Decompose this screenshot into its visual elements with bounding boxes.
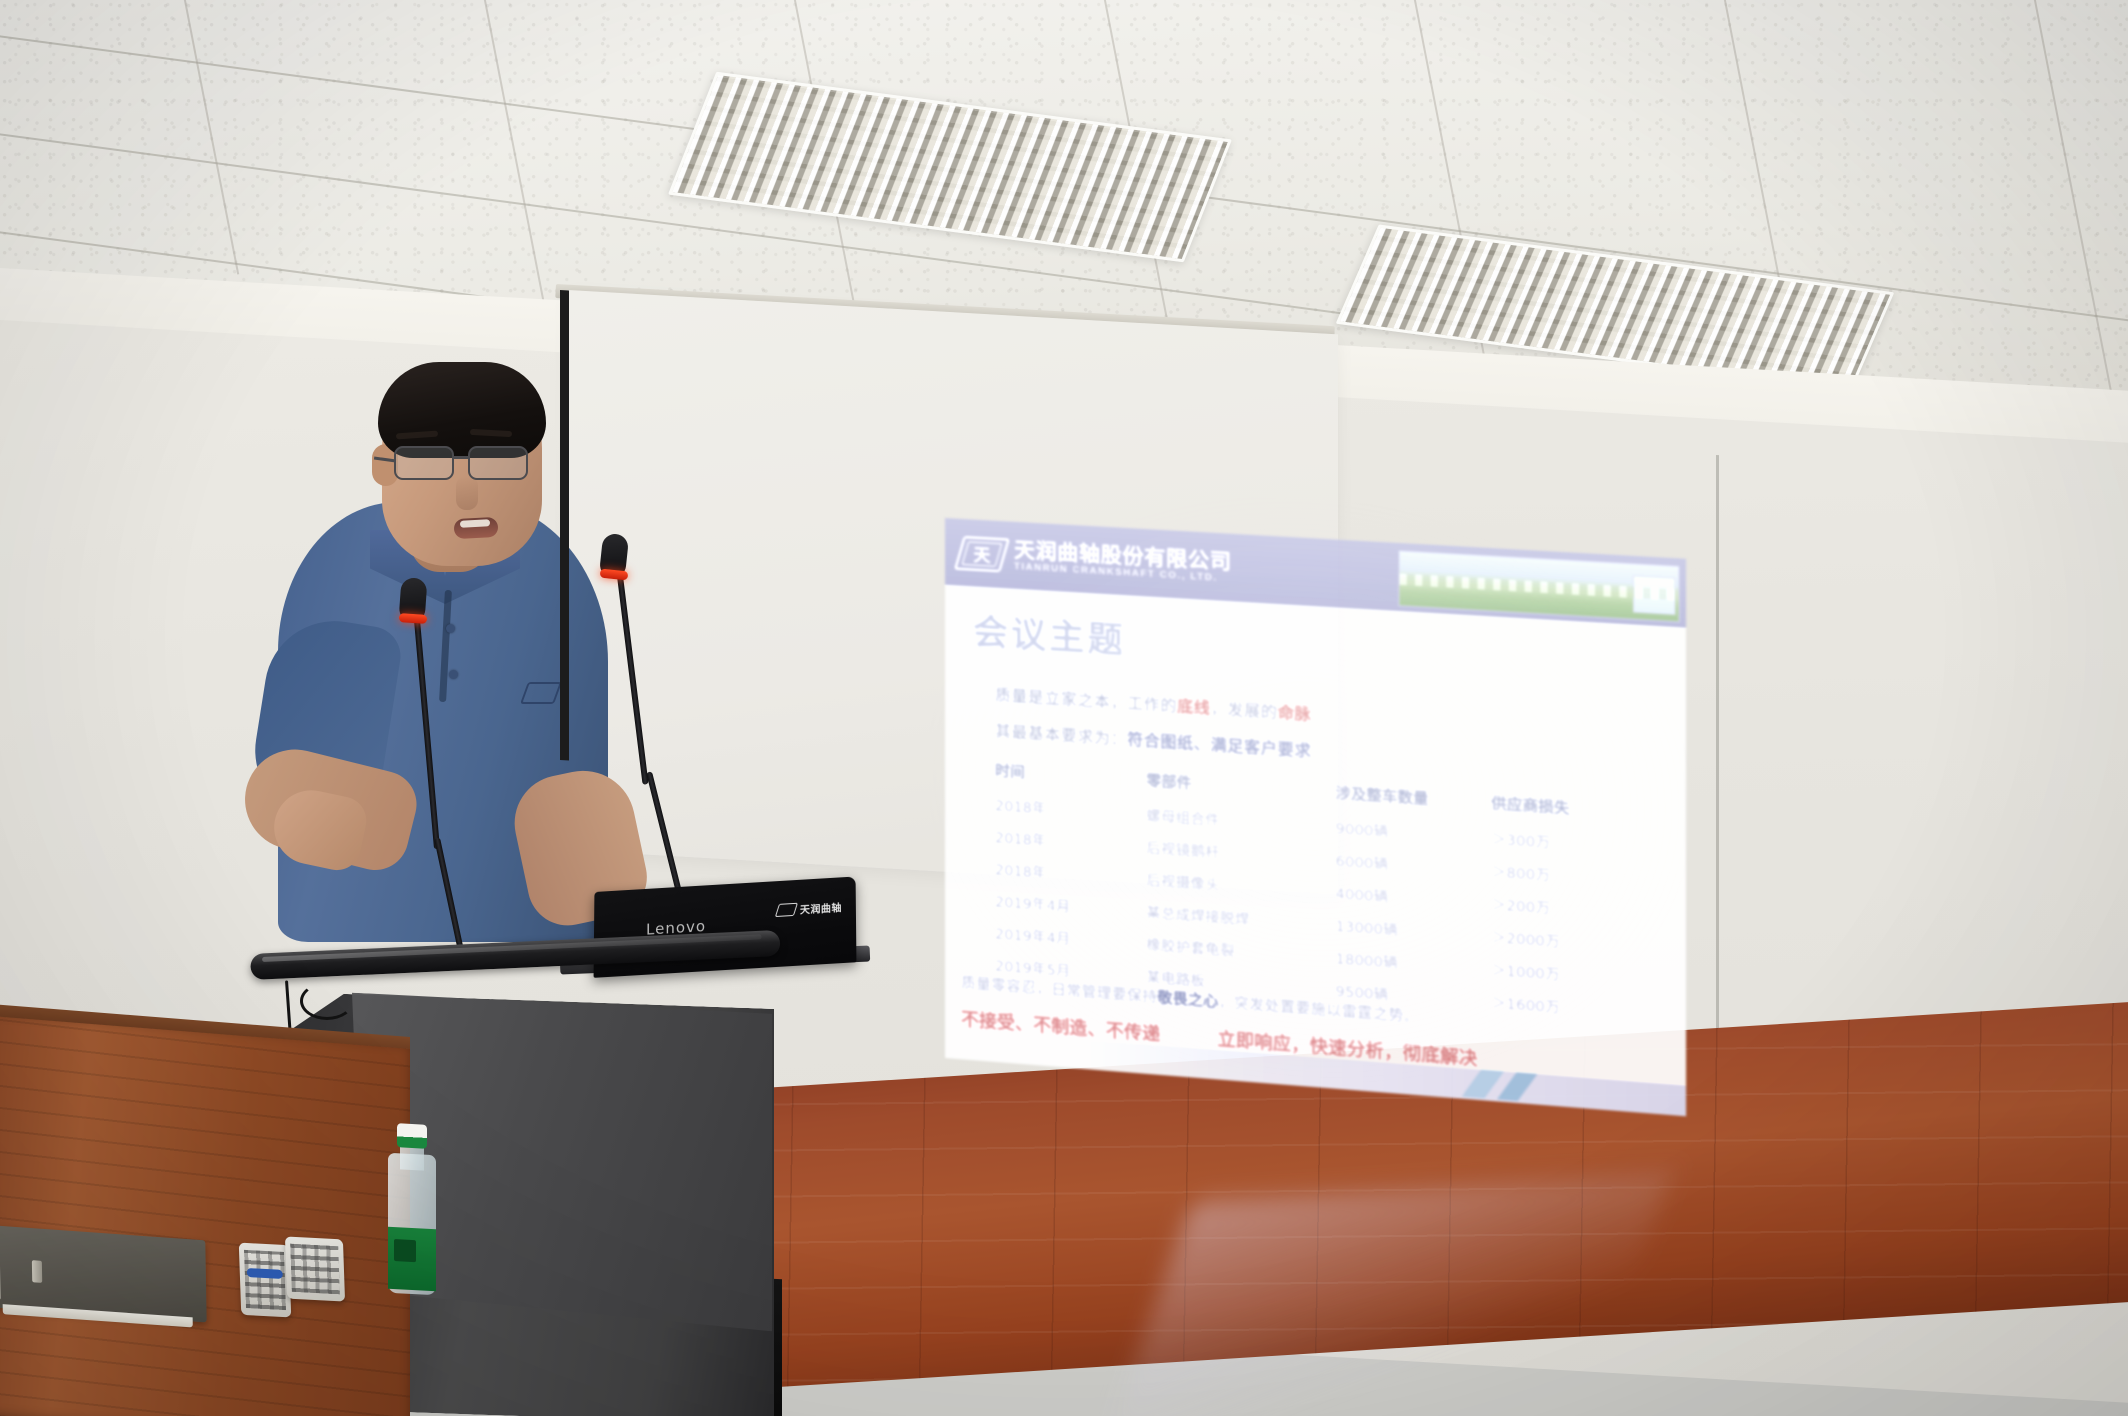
water-bottle[interactable] xyxy=(388,1123,436,1296)
screen-side-track xyxy=(560,290,569,761)
laptop[interactable]: Lenovo 天润曲轴 xyxy=(594,876,857,977)
line2-highlight-1: 符合图纸、满足客户要求 xyxy=(1127,730,1311,761)
remote-control[interactable] xyxy=(285,1236,345,1301)
floor-reflection xyxy=(1108,1172,1672,1416)
sticker-text: 天润曲轴 xyxy=(800,899,842,916)
glasses-bridge xyxy=(454,456,470,459)
sticker-diamond-logo-icon xyxy=(777,903,796,917)
projected-slide: 天 天润曲轴股份有限公司 TIANRUN CRANKSHAFT CO., LTD… xyxy=(945,518,1686,1116)
photo-inset xyxy=(1633,575,1675,615)
bottle-cap xyxy=(397,1123,427,1149)
remote-control[interactable] xyxy=(239,1243,291,1318)
lens-left xyxy=(394,446,454,480)
remote-keypad xyxy=(244,1250,286,1310)
nose xyxy=(456,476,478,510)
line1-part2: ，发展的 xyxy=(1210,699,1277,722)
polo-button xyxy=(449,670,458,679)
slide-title: 会议主题 xyxy=(973,604,1126,664)
logo-character: 天 xyxy=(959,535,1005,572)
line1-part1: 质量是立家之本，工作的 xyxy=(995,685,1177,716)
cable-loop xyxy=(300,982,354,1020)
footer1-bold: 敬畏之心 xyxy=(1157,988,1218,1011)
line2-part1: 其最基本要求为： xyxy=(995,721,1127,749)
notebook-clip-icon xyxy=(32,1260,42,1283)
line1-highlight-1: 底线 xyxy=(1177,696,1210,717)
remote-navigation-pad[interactable] xyxy=(247,1268,283,1279)
notebook[interactable] xyxy=(0,1226,207,1323)
slide-line-1: 质量是立家之本，工作的底线，发展的命脉 xyxy=(995,681,1311,725)
line1-highlight-2: 命脉 xyxy=(1278,703,1312,724)
company-name-block: 天润曲轴股份有限公司 TIANRUN CRANKSHAFT CO., LTD. xyxy=(1014,539,1232,584)
laptop-company-sticker: 天润曲轴 xyxy=(777,899,842,918)
microphone-status-ring-icon xyxy=(399,613,428,624)
bottle-label xyxy=(388,1227,436,1292)
polo-button xyxy=(446,624,455,633)
wood-grain xyxy=(0,1016,410,1416)
remote-keypad xyxy=(290,1244,340,1295)
aerial-factory-photo xyxy=(1398,550,1679,622)
swoosh-graphic-icon xyxy=(1457,1069,1565,1104)
conference-room-scene: 天 天润曲轴股份有限公司 TIANRUN CRANKSHAFT CO., LTD… xyxy=(0,0,2128,1416)
slide-line-2: 其最基本要求为：符合图纸、满足客户要求 xyxy=(995,717,1311,762)
lens-right xyxy=(468,446,528,480)
chest-diamond-logo-icon xyxy=(524,682,558,704)
front-desk xyxy=(0,1016,410,1416)
company-diamond-logo-icon: 天 xyxy=(959,535,1005,572)
